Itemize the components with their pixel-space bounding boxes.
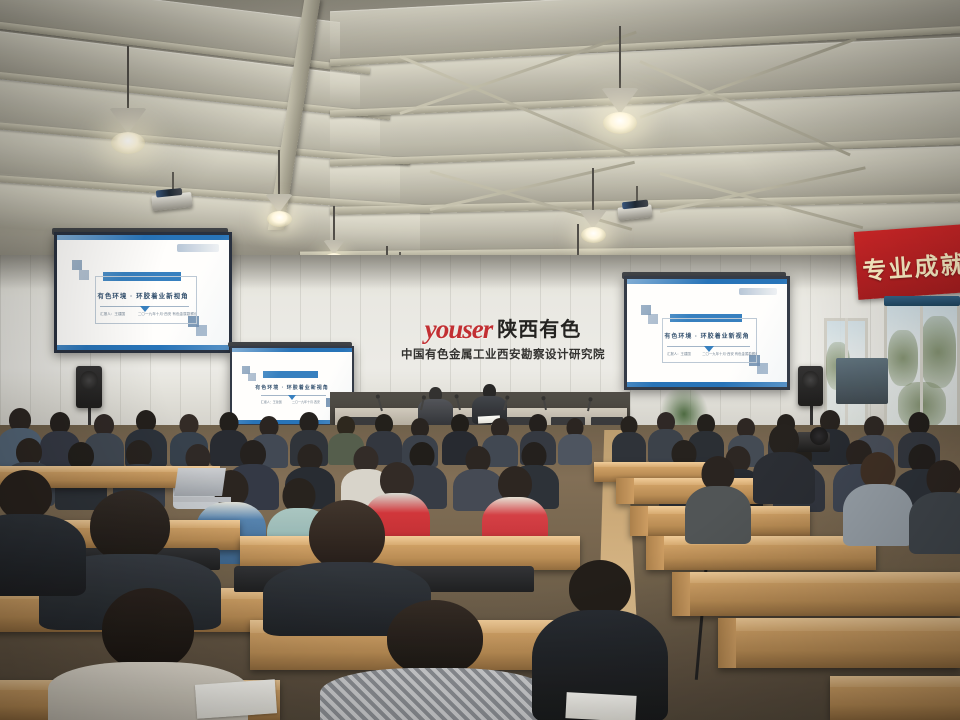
attendee-right-photographer: [756, 424, 812, 500]
attendee-right-1: [688, 456, 748, 542]
wall-cabinet: [836, 358, 888, 404]
slide-title: 有色环境 · 环胶着业新视角: [57, 290, 229, 300]
slide-meta-right: 二〇一九年十月·西安 有色金属勘察设计研究院: [138, 312, 196, 317]
brand-wordmark: youser: [425, 316, 493, 343]
handout-paper: [565, 692, 636, 720]
brand-subtitle: 中国有色金属工业西安勘察设计研究院: [388, 350, 618, 362]
red-banner: 专业成就基: [854, 224, 960, 300]
right-projection-screen: 有色环境 · 环胶着业新视角 汇报人：王建国 二〇一九年十月·西安 有色金属勘察…: [624, 276, 790, 390]
pendant-lamp: [264, 150, 294, 242]
slide-meta-left: 汇报人：王建国: [667, 351, 691, 356]
desk-row: [672, 572, 960, 616]
attendee-front-6: [0, 470, 80, 590]
window-blind: [884, 296, 960, 306]
red-banner-text: 专业成就基: [854, 224, 960, 287]
desk-row: [830, 676, 960, 720]
slide-corner-logo: [177, 244, 218, 252]
handout-paper: [195, 679, 277, 718]
slide-content: 有色环境 · 环胶着业新视角 汇报人：王建国 二〇一九年十月·西安 有色金属勘察…: [627, 279, 787, 387]
slide-meta-right: 二〇一九年十月·西安 有色金属勘察设计研究院: [702, 351, 756, 356]
attendee-right-3: [912, 460, 960, 552]
slide-meta-left: 汇报人：王建国: [100, 312, 125, 317]
slide-title: 有色环境 · 环胶着业新视角: [627, 331, 787, 340]
slide-meta-left: 汇报人：王建国: [261, 400, 282, 404]
left-projection-screen: 有色环境 · 环胶着业新视角 汇报人：王建国 二〇一九年十月·西安 有色金属勘察…: [54, 232, 232, 353]
slide-corner-logo: [739, 288, 777, 296]
pa-speaker-left: [76, 366, 102, 408]
desk-row: [718, 618, 960, 668]
attendee-right-2: [846, 452, 910, 544]
slide-title: 有色环境 · 环胶着业新视角: [232, 384, 352, 391]
desk-row: [646, 536, 876, 570]
pendant-lamp: [600, 26, 640, 156]
slide-content: 有色环境 · 环胶着业新视角 汇报人：王建国 二〇一九年十月·西安 有色金属勘察…: [57, 235, 229, 350]
conference-hall-photo: youser陕西有色 中国有色金属工业西安勘察设计研究院 专业成就基 有色环境: [0, 0, 960, 720]
brand-wordmark-cn: 陕西有色: [497, 320, 581, 340]
pendant-lamp: [108, 46, 148, 176]
attendee-front-4: [330, 600, 540, 720]
pa-speaker-right: [798, 366, 823, 406]
wall-brand-logo: youser陕西有色 中国有色金属工业西安勘察设计研究院: [388, 316, 618, 362]
slide-meta-right: 二〇一九年十月·西安: [292, 400, 328, 404]
